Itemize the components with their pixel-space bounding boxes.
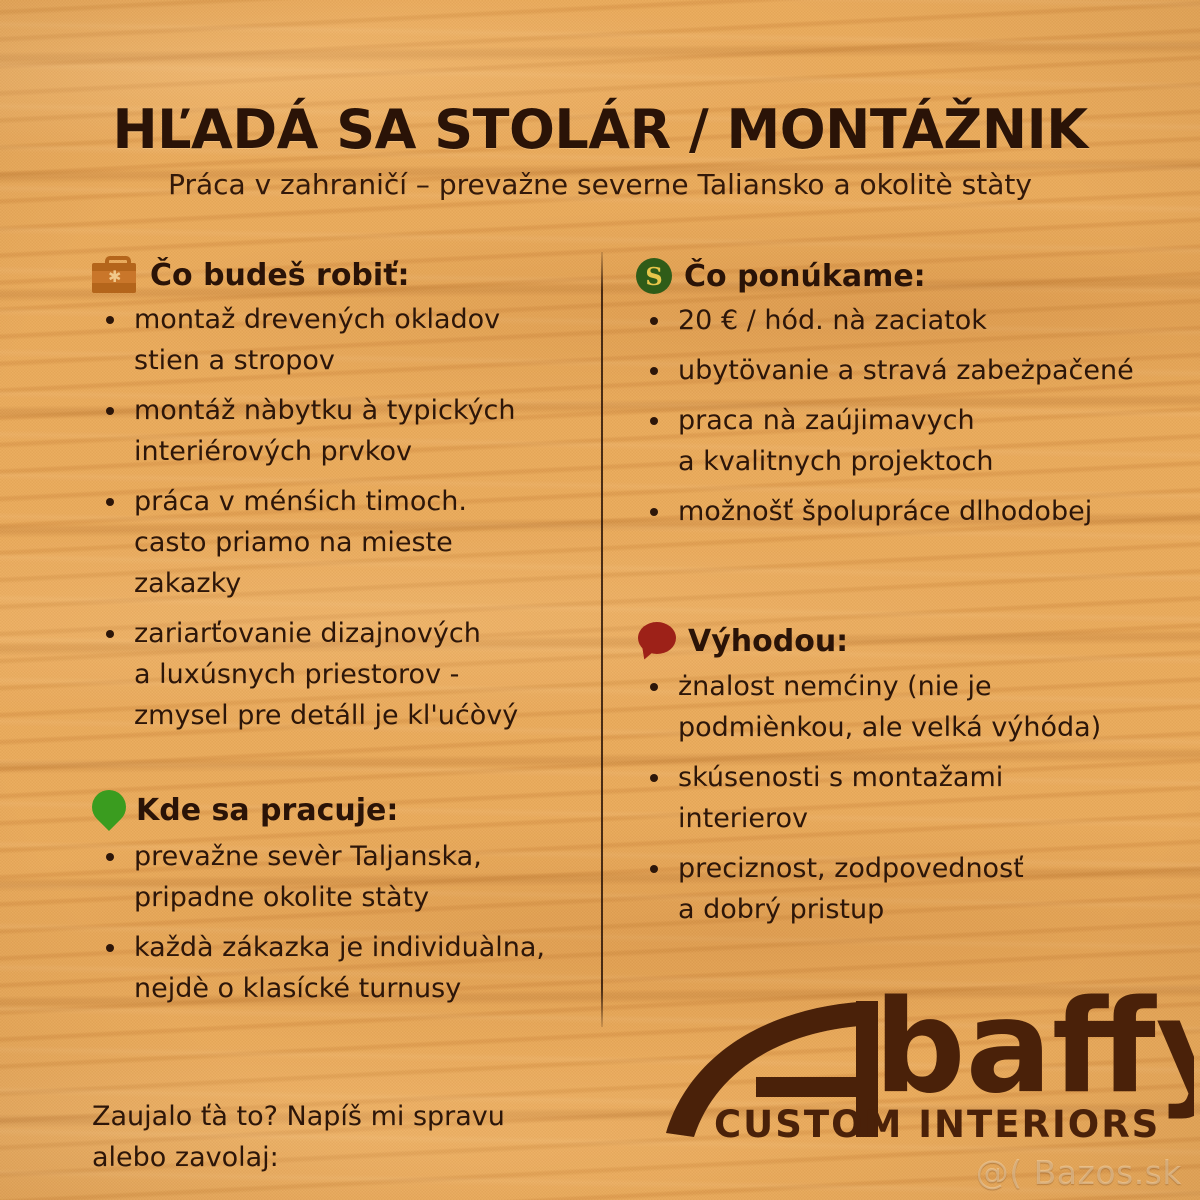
bullet-list: montaž drevených okladov stien a stropov…	[92, 299, 592, 736]
job-advert-poster: HĽADÁ SA STOLÁR / MONTÁŽNIK Práca v zahr…	[0, 0, 1200, 1200]
brand-logo: baffy CUSTOM INTERIORS	[660, 985, 1180, 1145]
list-item: ubytövanie a stravá zabeżpačené	[636, 350, 1176, 391]
list-item: každà zákazka je individuàlna, nejdè o k…	[92, 927, 592, 1009]
section-advantages: Výhodou: żnalost nemćiny (nie je podmièn…	[636, 622, 1176, 939]
section-heading: Výhodou:	[688, 624, 848, 659]
column-divider	[601, 252, 603, 1027]
contact-text: Zaujalo ťà to? Napíš mi spravu alebo zav…	[92, 1096, 505, 1178]
list-item: práca v ménśich timoch. casto priamo na …	[92, 481, 592, 604]
bullet-list: prevažne sevèr Taljanska, pripadne okoli…	[92, 836, 592, 1009]
list-item: prevažne sevèr Taljanska, pripadne okoli…	[92, 836, 592, 918]
list-item: praca nà zaújimavych a kvalitnych projek…	[636, 400, 1176, 482]
section-heading: Čo budeš robiť:	[150, 258, 410, 293]
bullet-list: żnalost nemćiny (nie je podmiènkou, ale …	[636, 666, 1176, 930]
contact-block: Zaujalo ťà to? Napíš mi spravu alebo zav…	[92, 1055, 505, 1200]
list-item: možnošť špolupráce dlhodobej	[636, 491, 1176, 532]
speech-bubble-icon	[636, 622, 676, 660]
logo-tagline: CUSTOM INTERIORS	[714, 1103, 1160, 1146]
list-item: zariarťovanie dizajnových a luxúsnych pr…	[92, 613, 592, 736]
list-item: montáž nàbytku à typických interiérových…	[92, 390, 592, 472]
section-what-we-offer: S Čo ponúkame: 20 € / hód. nà zaciatok u…	[636, 258, 1176, 541]
section-where-you-work: Kde sa pracuje: prevažne sevèr Taljanska…	[92, 790, 592, 1018]
location-pin-icon	[92, 790, 126, 830]
page-title: HĽADÁ SA STOLÁR / MONTÁŽNIK	[0, 98, 1200, 161]
list-item: preciznost, zodpovednosť a dobrý pristup	[636, 848, 1176, 930]
logo-wordmark: baffy	[874, 991, 1194, 1121]
section-what-you-do: ✱ Čo budeš robiť: montaž drevených oklad…	[92, 258, 592, 745]
list-item: montaž drevených okladov stien a stropov	[92, 299, 592, 381]
section-heading: Kde sa pracuje:	[136, 793, 398, 828]
page-subtitle: Práca v zahraničí – prevažne severne Tal…	[0, 168, 1200, 201]
list-item: żnalost nemćiny (nie je podmiènkou, ale …	[636, 666, 1176, 748]
list-item: 20 € / hód. nà zaciatok	[636, 300, 1176, 341]
bullet-list: 20 € / hód. nà zaciatok ubytövanie a str…	[636, 300, 1176, 532]
coin-s-icon: S	[636, 258, 672, 294]
watermark: @( Bazos.sk	[976, 1153, 1182, 1192]
toolbox-icon: ✱	[92, 259, 136, 293]
list-item: skúsenosti s montažami interierov	[636, 757, 1176, 839]
section-heading: Čo ponúkame:	[684, 259, 926, 294]
